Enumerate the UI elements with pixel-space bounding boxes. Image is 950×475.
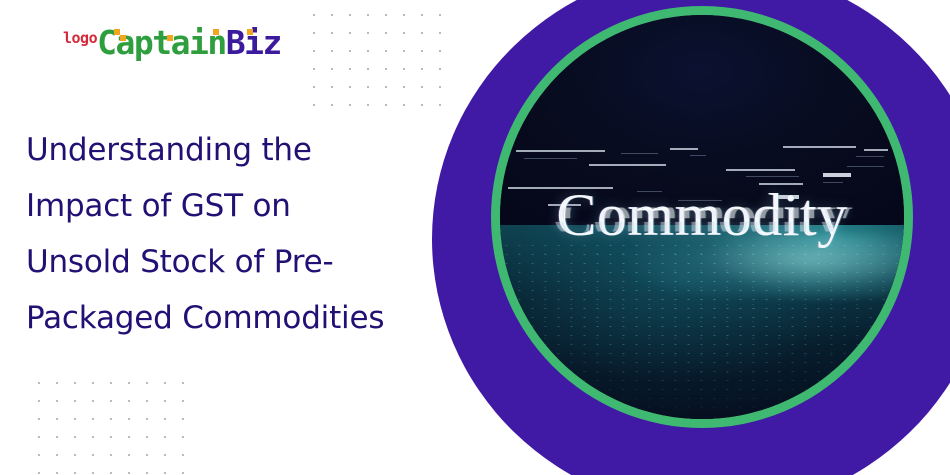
page-title-line-3: Unsold Stock of Pre-	[26, 234, 446, 290]
logo-mark-text: logo	[63, 31, 97, 46]
logo-accent-dot-2	[120, 35, 126, 41]
brand-name-part-2: Biz	[226, 23, 281, 62]
hero-image: Commodity Commodity Commodity	[500, 15, 904, 419]
logo-accent-dot-3	[167, 35, 173, 41]
logo-accent-dot-4	[213, 29, 219, 35]
page-title-line-2: Impact of GST on	[26, 178, 446, 234]
page-title: Understanding the Impact of GST on Unsol…	[26, 122, 446, 346]
page-title-line-1: Understanding the	[26, 122, 446, 178]
page-title-line-4: Packaged Commodities	[26, 290, 446, 346]
brand-name: CaptainBiz	[97, 26, 281, 59]
hero-overlay-word: Commodity Commodity Commodity	[500, 185, 904, 245]
dot-grid-bottom-left	[28, 372, 200, 475]
dot-grid-top-right	[303, 4, 455, 108]
logo-accent-dot-5	[247, 29, 253, 35]
article-banner: Commodity Commodity Commodity logo Capta…	[0, 0, 950, 475]
hero-image-ring: Commodity Commodity Commodity	[491, 6, 913, 428]
brand-logo[interactable]: logo CaptainBiz	[63, 26, 281, 66]
